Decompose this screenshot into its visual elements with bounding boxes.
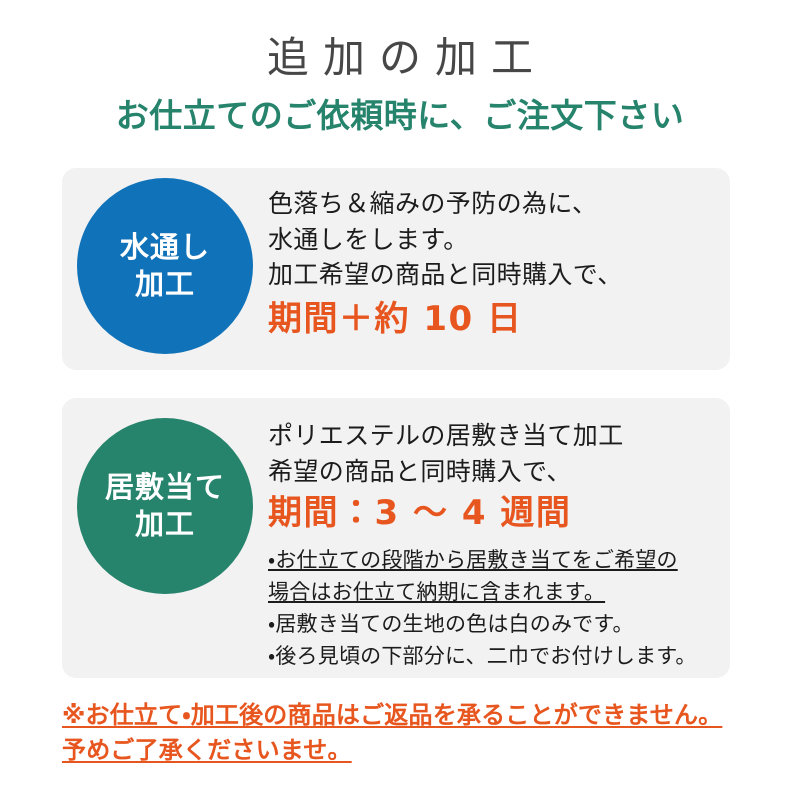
body-line: ポリエステルの居敷き当て加工 bbox=[268, 418, 716, 454]
footer-notice-line1: ※お仕立て・加工後の商品はご返品を承ることができません。 bbox=[62, 698, 752, 733]
card-mizutoshi: 水通し 加工 色落ち＆縮みの予防の為に、 水通しをします。 加工希望の商品と同時… bbox=[62, 168, 730, 370]
note-line: ・居敷き当ての生地の色は白のみです。 bbox=[268, 609, 716, 641]
badge-label-line2: 加工 bbox=[135, 266, 195, 303]
card-ishikiate: 居敷当て 加工 ポリエステルの居敷き当て加工 希望の商品と同時購入で、 期間：3… bbox=[62, 398, 730, 678]
badge-wrapper-ishikiate: 居敷当て 加工 bbox=[62, 398, 268, 594]
highlight-duration-ishikiate: 期間：3 〜 4 週間 bbox=[268, 491, 716, 537]
page-header: 追加の加工 お仕立てのご依頼時に、ご注文下さい bbox=[0, 0, 800, 136]
infographic-page: 追加の加工 お仕立てのご依頼時に、ご注文下さい 水通し 加工 色落ち＆縮みの予防… bbox=[0, 0, 800, 800]
body-line: 加工希望の商品と同時購入で、 bbox=[268, 257, 716, 293]
badge-label-line2: 加工 bbox=[135, 506, 195, 543]
badge-circle-mizutoshi: 水通し 加工 bbox=[77, 178, 253, 354]
notes-list-ishikiate: ・お仕立ての段階から居敷き当てをご希望の 場合はお仕立て納期に含まれます。 ・居… bbox=[268, 545, 716, 673]
body-line: 色落ち＆縮みの予防の為に、 bbox=[268, 186, 716, 222]
badge-wrapper-mizutoshi: 水通し 加工 bbox=[62, 168, 268, 354]
body-line: 水通しをします。 bbox=[268, 222, 716, 258]
highlight-duration-mizutoshi: 期間＋約 10 日 bbox=[268, 297, 716, 343]
footer-notice-line2: 予めご了承くださいませ。 bbox=[62, 733, 752, 768]
note-line: ・お仕立ての段階から居敷き当てをご希望の bbox=[268, 545, 716, 577]
page-subtitle: お仕立てのご依頼時に、ご注文下さい bbox=[0, 96, 800, 136]
card-body-mizutoshi: 色落ち＆縮みの予防の為に、 水通しをします。 加工希望の商品と同時購入で、 期間… bbox=[268, 168, 730, 342]
body-line: 希望の商品と同時購入で、 bbox=[268, 454, 716, 490]
note-line: 場合はお仕立て納期に含まれます。 bbox=[268, 577, 716, 609]
footer-notice: ※お仕立て・加工後の商品はご返品を承ることができません。 予めご了承くださいませ… bbox=[62, 698, 752, 768]
badge-label-line1: 居敷当て bbox=[105, 469, 225, 506]
badge-circle-ishikiate: 居敷当て 加工 bbox=[77, 418, 253, 594]
card-body-ishikiate: ポリエステルの居敷き当て加工 希望の商品と同時購入で、 期間：3 〜 4 週間 … bbox=[268, 398, 730, 673]
note-line: ・後ろ見頃の下部分に、二巾でお付けします。 bbox=[268, 641, 716, 673]
badge-label-line1: 水通し bbox=[120, 229, 210, 266]
page-title: 追加の加工 bbox=[0, 34, 800, 82]
